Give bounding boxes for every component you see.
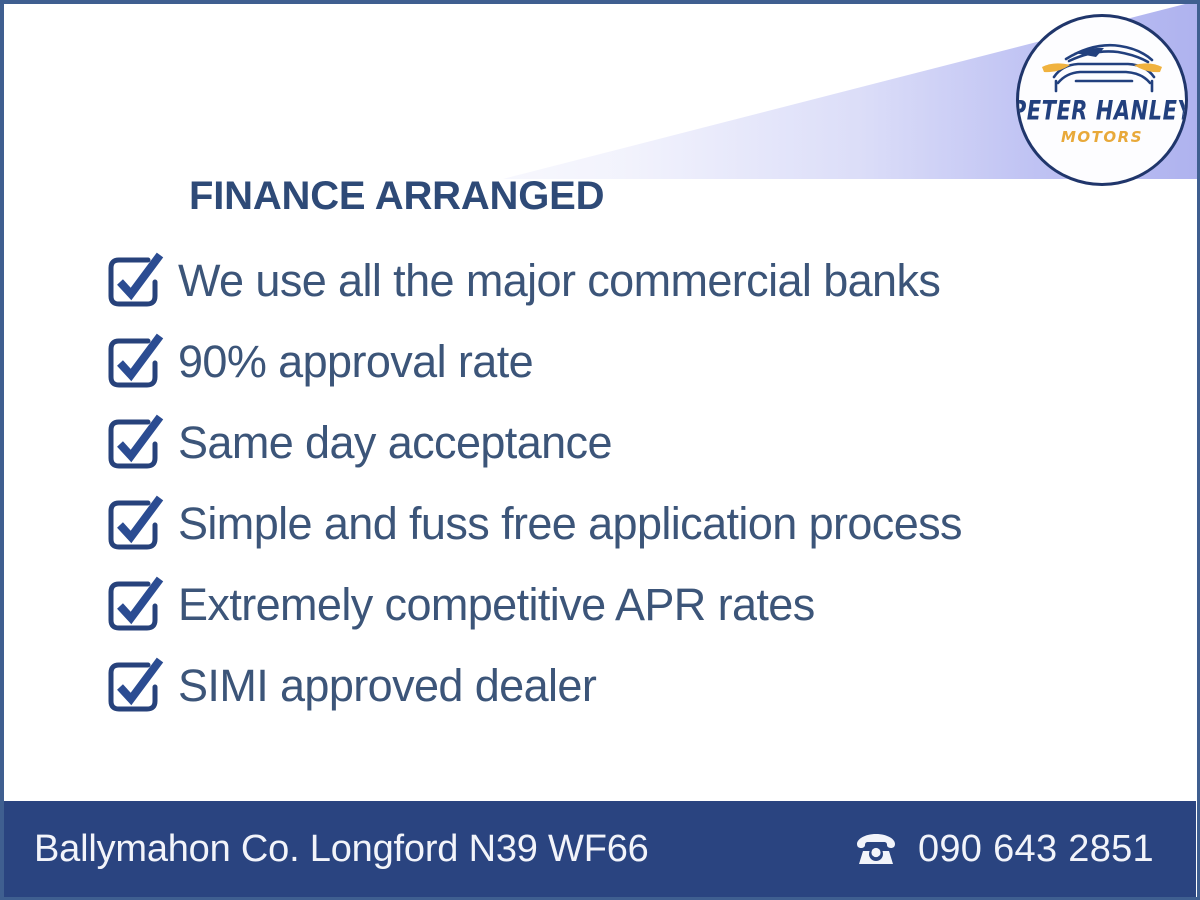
- list-item: SIMI approved dealer: [104, 645, 1104, 726]
- footer-phone-number: 090 643 2851: [918, 828, 1154, 871]
- list-item: 90% approval rate: [104, 321, 1104, 402]
- footer-contact-bar: Ballymahon Co. Longford N39 WF66 090 643…: [4, 801, 1196, 897]
- page-title: FINANCE ARRANGED: [189, 174, 604, 219]
- list-item-label: Same day acceptance: [178, 420, 612, 465]
- checkbox-checked-icon: [104, 495, 166, 553]
- footer-address: Ballymahon Co. Longford N39 WF66: [34, 828, 649, 871]
- footer-phone-group[interactable]: 090 643 2851: [854, 828, 1154, 871]
- finance-arranged-poster: PETER HANLEY MOTORS FINANCE ARRANGED We …: [0, 0, 1200, 900]
- telephone-icon: [854, 832, 898, 866]
- border-left: [0, 0, 4, 900]
- list-item: We use all the major commercial banks: [104, 240, 1104, 321]
- checkbox-checked-icon: [104, 576, 166, 634]
- list-item: Extremely competitive APR rates: [104, 564, 1104, 645]
- checkbox-checked-icon: [104, 333, 166, 391]
- brand-name: PETER HANLEY: [1016, 98, 1188, 124]
- list-item-label: Extremely competitive APR rates: [178, 582, 815, 627]
- checkbox-checked-icon: [104, 414, 166, 472]
- checkbox-checked-icon: [104, 252, 166, 310]
- feature-list: We use all the major commercial banks 90…: [104, 240, 1104, 726]
- brand-subtitle: MOTORS: [1061, 130, 1143, 145]
- list-item-label: 90% approval rate: [178, 339, 533, 384]
- list-item: Simple and fuss free application process: [104, 483, 1104, 564]
- list-item-label: SIMI approved dealer: [178, 663, 596, 708]
- list-item: Same day acceptance: [104, 402, 1104, 483]
- list-item-label: We use all the major commercial banks: [178, 258, 940, 303]
- car-silhouette-icon: [1036, 37, 1168, 99]
- checkbox-checked-icon: [104, 657, 166, 715]
- list-item-label: Simple and fuss free application process: [178, 501, 962, 546]
- border-top: [0, 0, 1200, 4]
- brand-logo: PETER HANLEY MOTORS: [1016, 14, 1188, 186]
